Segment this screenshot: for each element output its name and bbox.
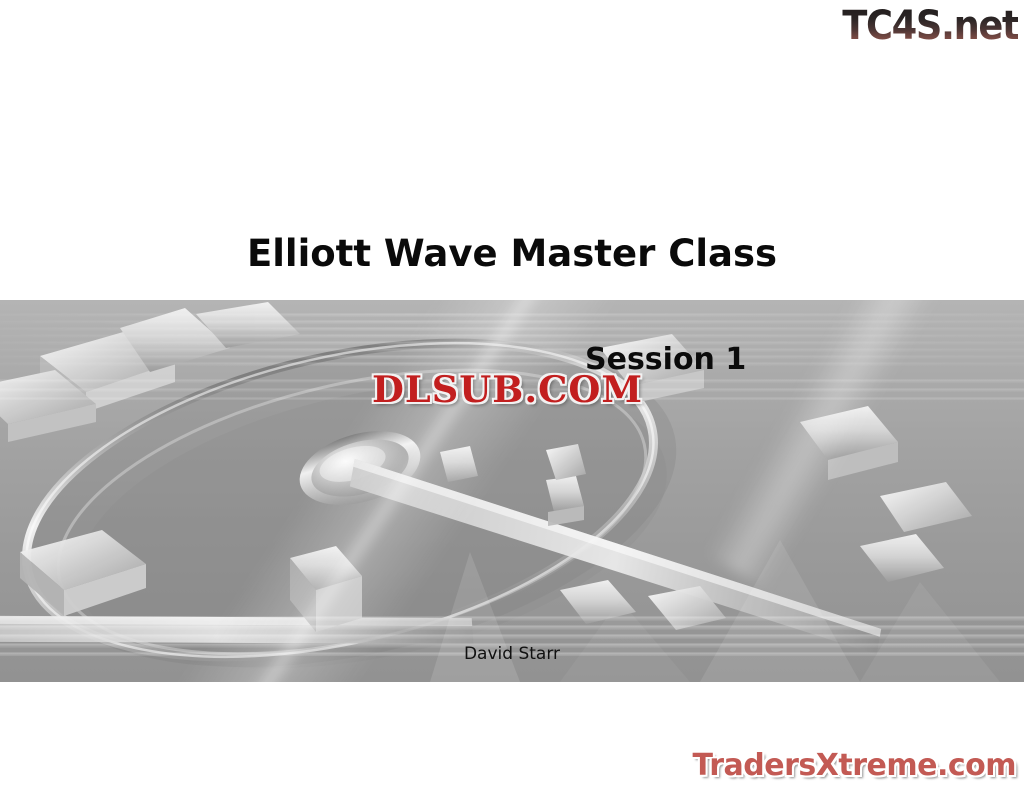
tc4s-logo[interactable]: TC4S.net	[842, 4, 1018, 48]
dlsub-watermark: DLSUB.COM	[372, 371, 643, 409]
page-title: Elliott Wave Master Class	[0, 232, 1024, 275]
presenter-name: David Starr	[0, 644, 1024, 664]
tradersxtreme-logo[interactable]: TradersXtreme.com	[693, 749, 1016, 783]
band-top-rule	[0, 300, 1024, 308]
presentation-slide: TC4S.net Elliott Wave Master Class	[0, 0, 1024, 791]
decorative-artwork-band	[0, 300, 1024, 682]
